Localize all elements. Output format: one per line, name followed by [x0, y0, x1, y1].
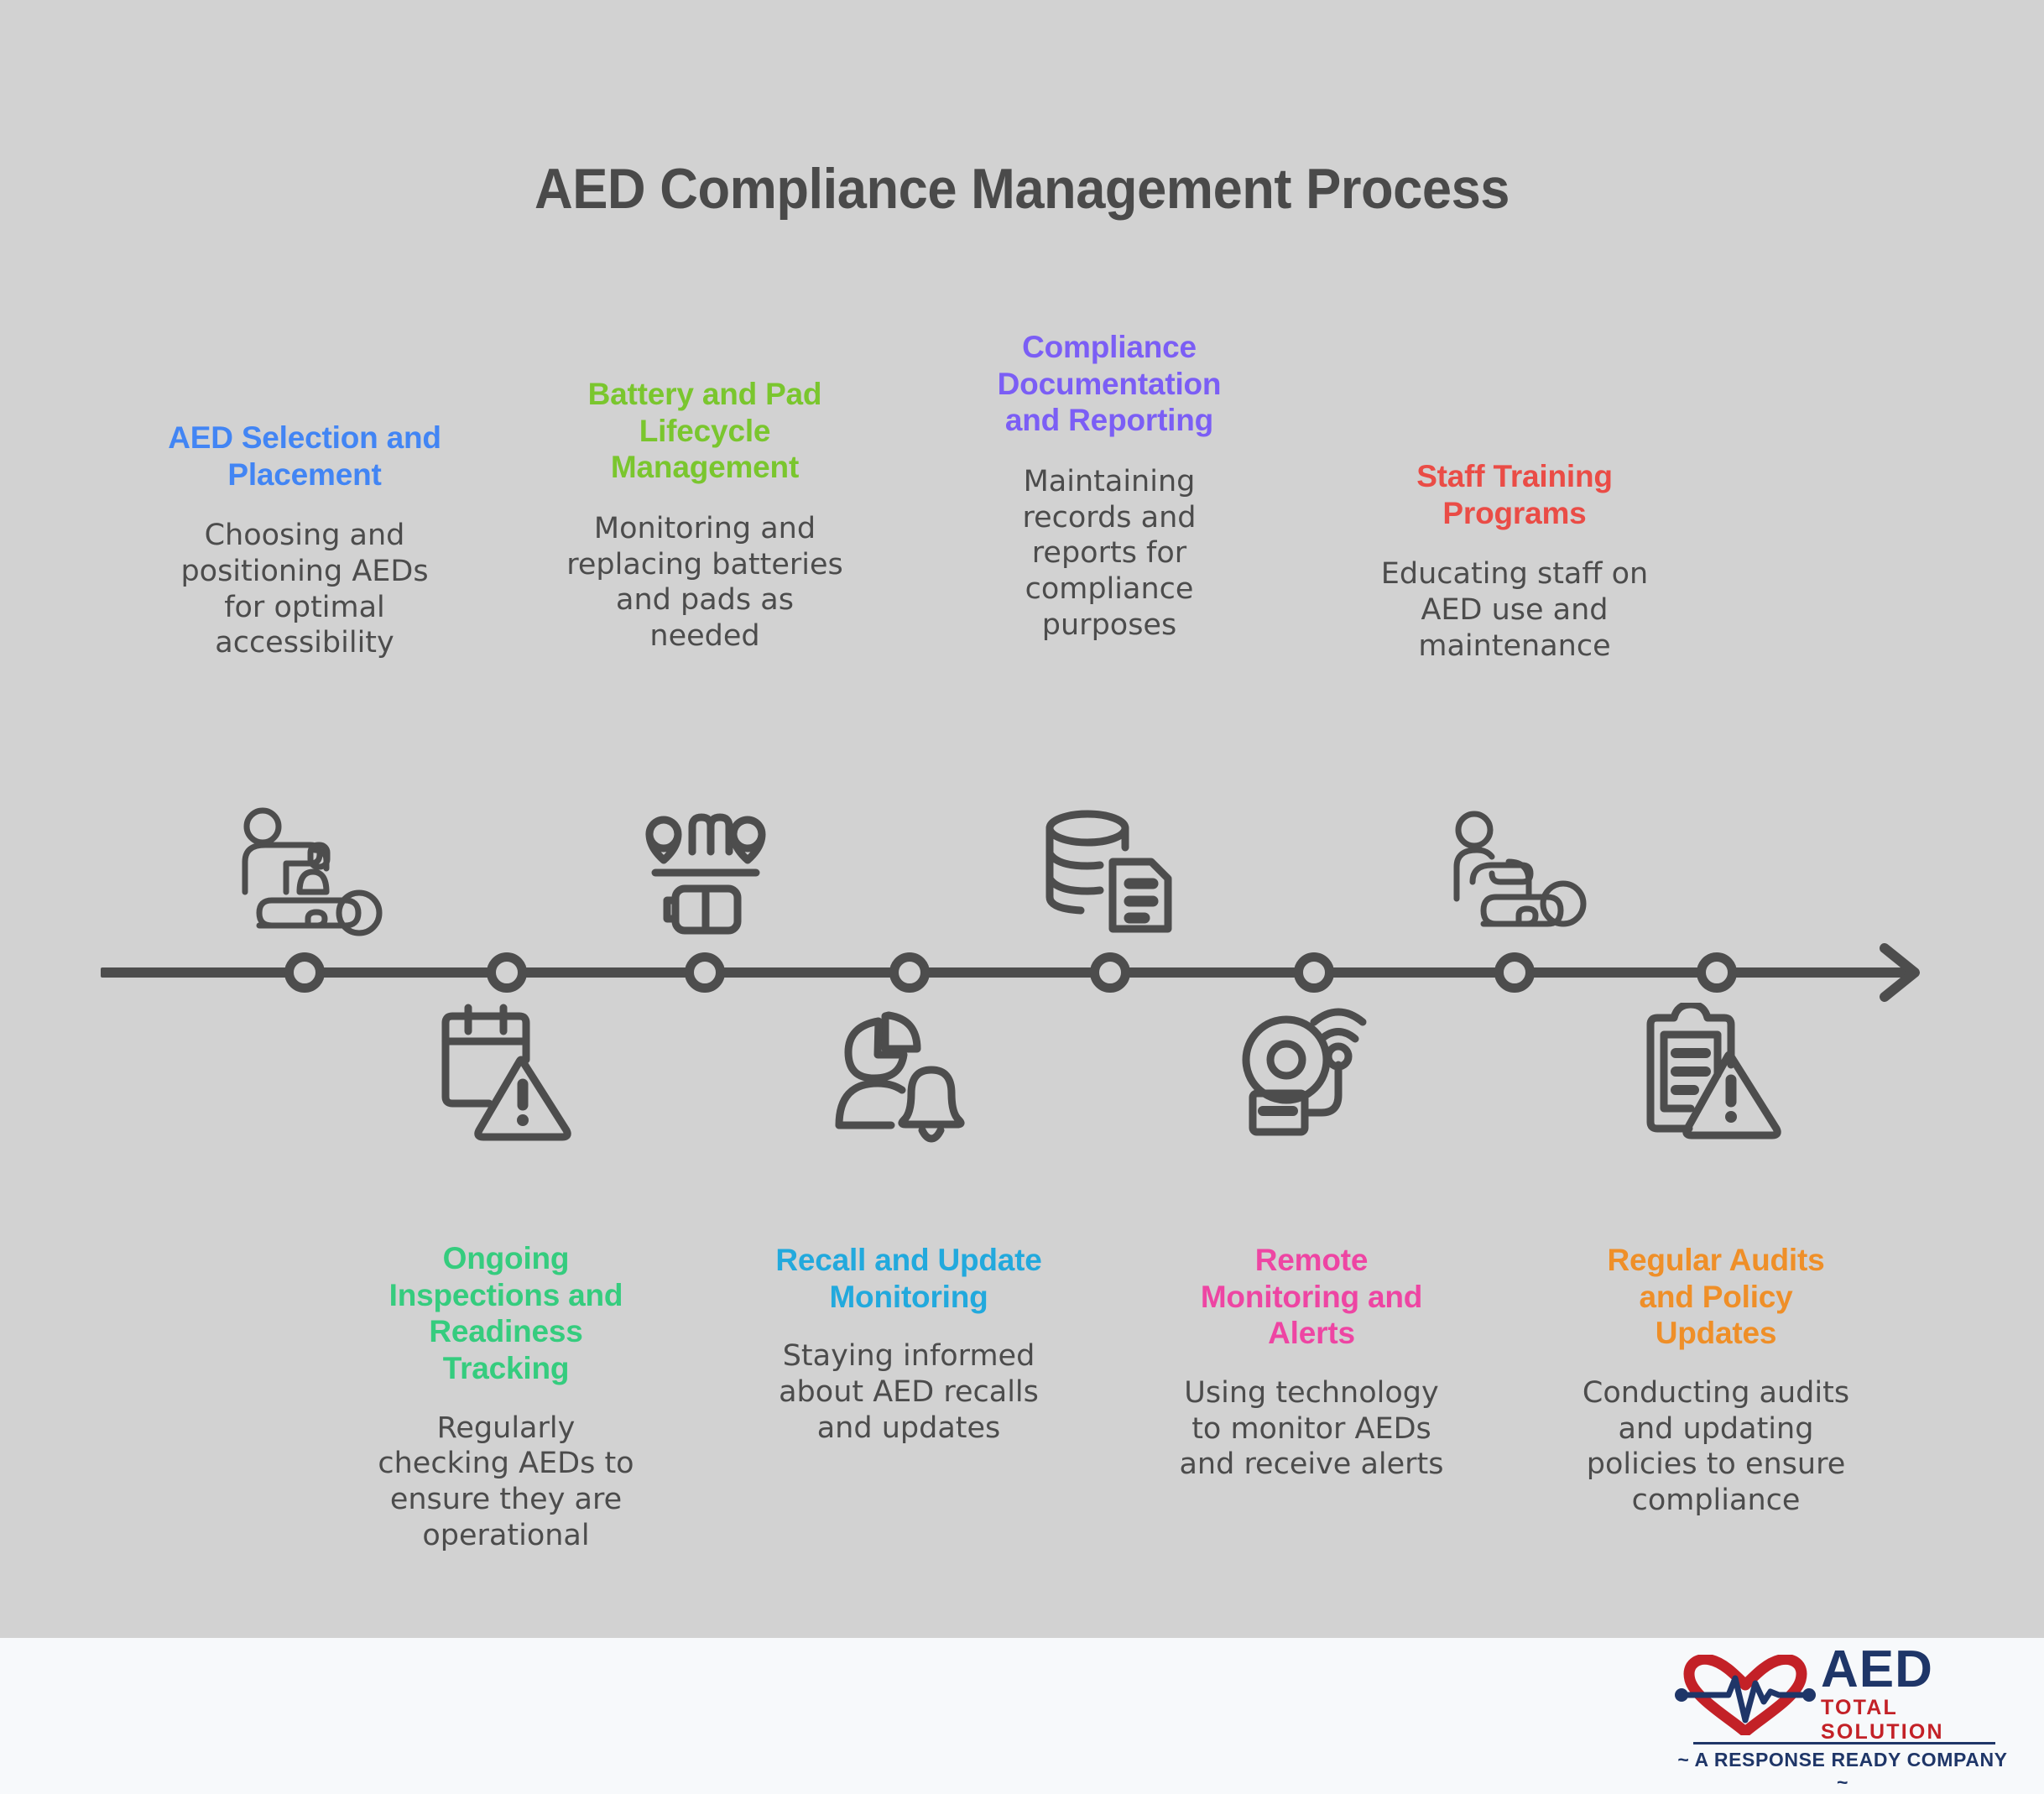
icon-database-document — [1030, 801, 1190, 944]
step-ongoing-inspections-and-readiness-tracking: Ongoing Inspections and Readiness Tracki… — [368, 1240, 644, 1553]
step-staff-training-programs: Staff Training Programs Educating staff … — [1376, 458, 1653, 664]
logo-subtitle: TOTAL SOLUTION — [1821, 1696, 2010, 1744]
infographic-canvas: AED Compliance Management Process — [0, 0, 2044, 1782]
step-heading: Battery and Pad Lifecycle Management — [566, 376, 843, 486]
page-title: AED Compliance Management Process — [71, 156, 1972, 222]
timeline-node — [487, 952, 527, 993]
logo-wordmark: AED TOTAL SOLUTION — [1821, 1645, 2010, 1745]
step-description: Choosing and positioning AEDs for optima… — [166, 518, 443, 661]
timeline-node — [1294, 952, 1334, 993]
timeline-node — [1494, 952, 1535, 993]
step-regular-audits-and-policy-updates: Regular Audits and Policy Updates Conduc… — [1577, 1242, 1854, 1519]
logo-tagline: ~ A RESPONSE READY COMPANY ~ — [1675, 1749, 2010, 1794]
step-description: Maintaining records and reports for comp… — [971, 464, 1248, 643]
step-heading: Ongoing Inspections and Readiness Tracki… — [368, 1240, 644, 1387]
timeline-arrow-icon — [1880, 941, 1923, 1004]
step-heading: AED Selection and Placement — [166, 420, 443, 493]
step-heading: Staff Training Programs — [1376, 458, 1653, 531]
icon-battery-lifecycle — [625, 801, 785, 944]
step-description: Monitoring and replacing batteries and p… — [566, 511, 843, 654]
timeline-node — [1697, 952, 1737, 993]
step-description: Educating staff on AED use and maintenan… — [1376, 556, 1653, 664]
step-description: Regularly checking AEDs to ensure they a… — [368, 1411, 644, 1554]
step-heading: Recall and Update Monitoring — [770, 1242, 1047, 1315]
logo-divider — [1693, 1742, 1995, 1744]
step-description: Using technology to monitor AEDs and rec… — [1173, 1375, 1450, 1483]
icon-cpr-first-aid — [226, 801, 385, 944]
logo-main-row: AED TOTAL SOLUTION — [1675, 1651, 2010, 1739]
step-compliance-documentation-and-reporting: Compliance Documentation and Reporting M… — [971, 329, 1248, 643]
step-description: Staying informed about AED recalls and u… — [770, 1338, 1047, 1446]
step-description: Conducting audits and updating policies … — [1577, 1375, 1854, 1519]
step-heading: Compliance Documentation and Reporting — [971, 329, 1248, 439]
step-heading: Remote Monitoring and Alerts — [1173, 1242, 1450, 1352]
timeline-node — [889, 952, 930, 993]
step-heading: Regular Audits and Policy Updates — [1577, 1242, 1854, 1352]
logo-brand: AED — [1821, 1645, 2010, 1695]
timeline-node — [685, 952, 725, 993]
step-recall-and-update-monitoring: Recall and Update Monitoring Staying inf… — [770, 1242, 1047, 1446]
company-logo: AED TOTAL SOLUTION ~ A RESPONSE READY CO… — [1675, 1651, 2010, 1776]
heart-ecg-icon — [1675, 1655, 1816, 1735]
step-battery-and-pad-lifecycle-management: Battery and Pad Lifecycle Management Mon… — [566, 376, 843, 654]
icon-clipboard-warning — [1637, 1003, 1796, 1145]
step-aed-selection-and-placement: AED Selection and Placement Choosing and… — [166, 420, 443, 661]
icon-alarm-wifi — [1234, 1003, 1394, 1145]
icon-calendar-warning — [427, 1003, 587, 1145]
icon-cpr-training — [1435, 801, 1594, 944]
timeline-axis — [101, 967, 1913, 978]
timeline-node — [284, 952, 325, 993]
timeline-node — [1090, 952, 1130, 993]
icon-chart-person-bell — [830, 1003, 989, 1145]
step-remote-monitoring-and-alerts: Remote Monitoring and Alerts Using techn… — [1173, 1242, 1450, 1483]
